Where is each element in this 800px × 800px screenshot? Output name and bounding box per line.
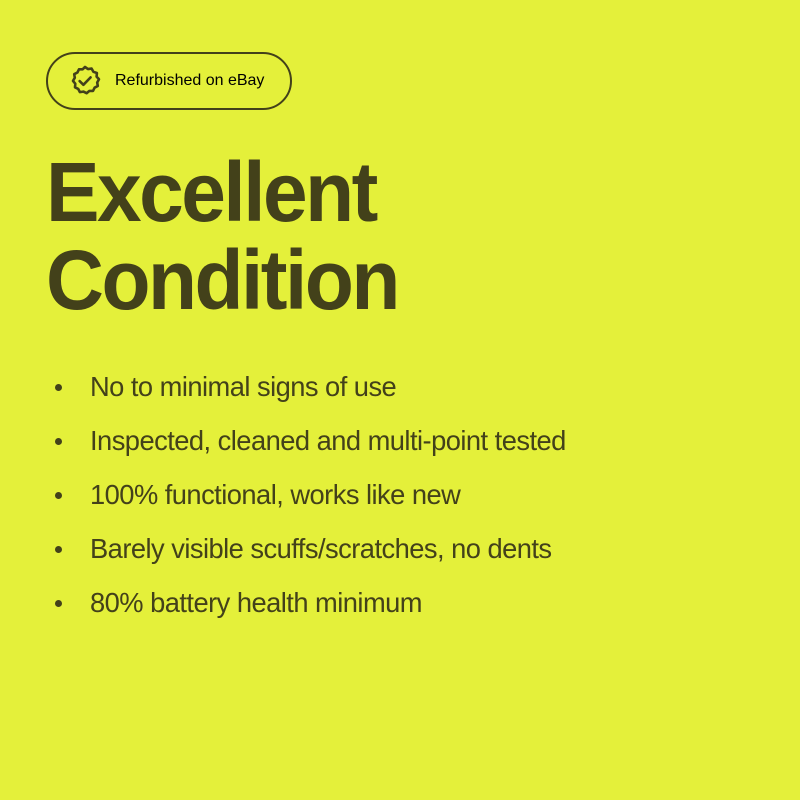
list-item: Barely visible scuffs/scratches, no dent… (46, 522, 776, 576)
list-item: 80% battery health minimum (46, 576, 776, 630)
page-title-line-1: Excellent (46, 148, 715, 236)
list-item: No to minimal signs of use (46, 360, 776, 414)
page-title: Excellent Condition (46, 148, 715, 324)
list-item-label: 80% battery health minimum (90, 586, 422, 620)
list-item-label: Barely visible scuffs/scratches, no dent… (90, 532, 552, 566)
page-title-line-2: Condition (46, 236, 715, 324)
bullet-point-icon (55, 492, 62, 499)
refurbished-badge: Refurbished on eBay (46, 52, 292, 110)
refurbished-badge-label: Refurbished on eBay (115, 72, 264, 90)
list-item-label: Inspected, cleaned and multi-point teste… (90, 424, 566, 458)
list-item-label: No to minimal signs of use (90, 370, 396, 404)
bullet-point-icon (55, 384, 62, 391)
verified-rosette-check-icon (69, 65, 101, 97)
bullet-point-icon (55, 546, 62, 553)
list-item: Inspected, cleaned and multi-point teste… (46, 414, 776, 468)
bullet-point-icon (55, 600, 62, 607)
bullet-point-icon (55, 438, 62, 445)
condition-feature-list: No to minimal signs of use Inspected, cl… (46, 360, 776, 630)
list-item: 100% functional, works like new (46, 468, 776, 522)
refurbished-condition-card: Refurbished on eBay Excellent Condition … (0, 0, 800, 800)
list-item-label: 100% functional, works like new (90, 478, 460, 512)
